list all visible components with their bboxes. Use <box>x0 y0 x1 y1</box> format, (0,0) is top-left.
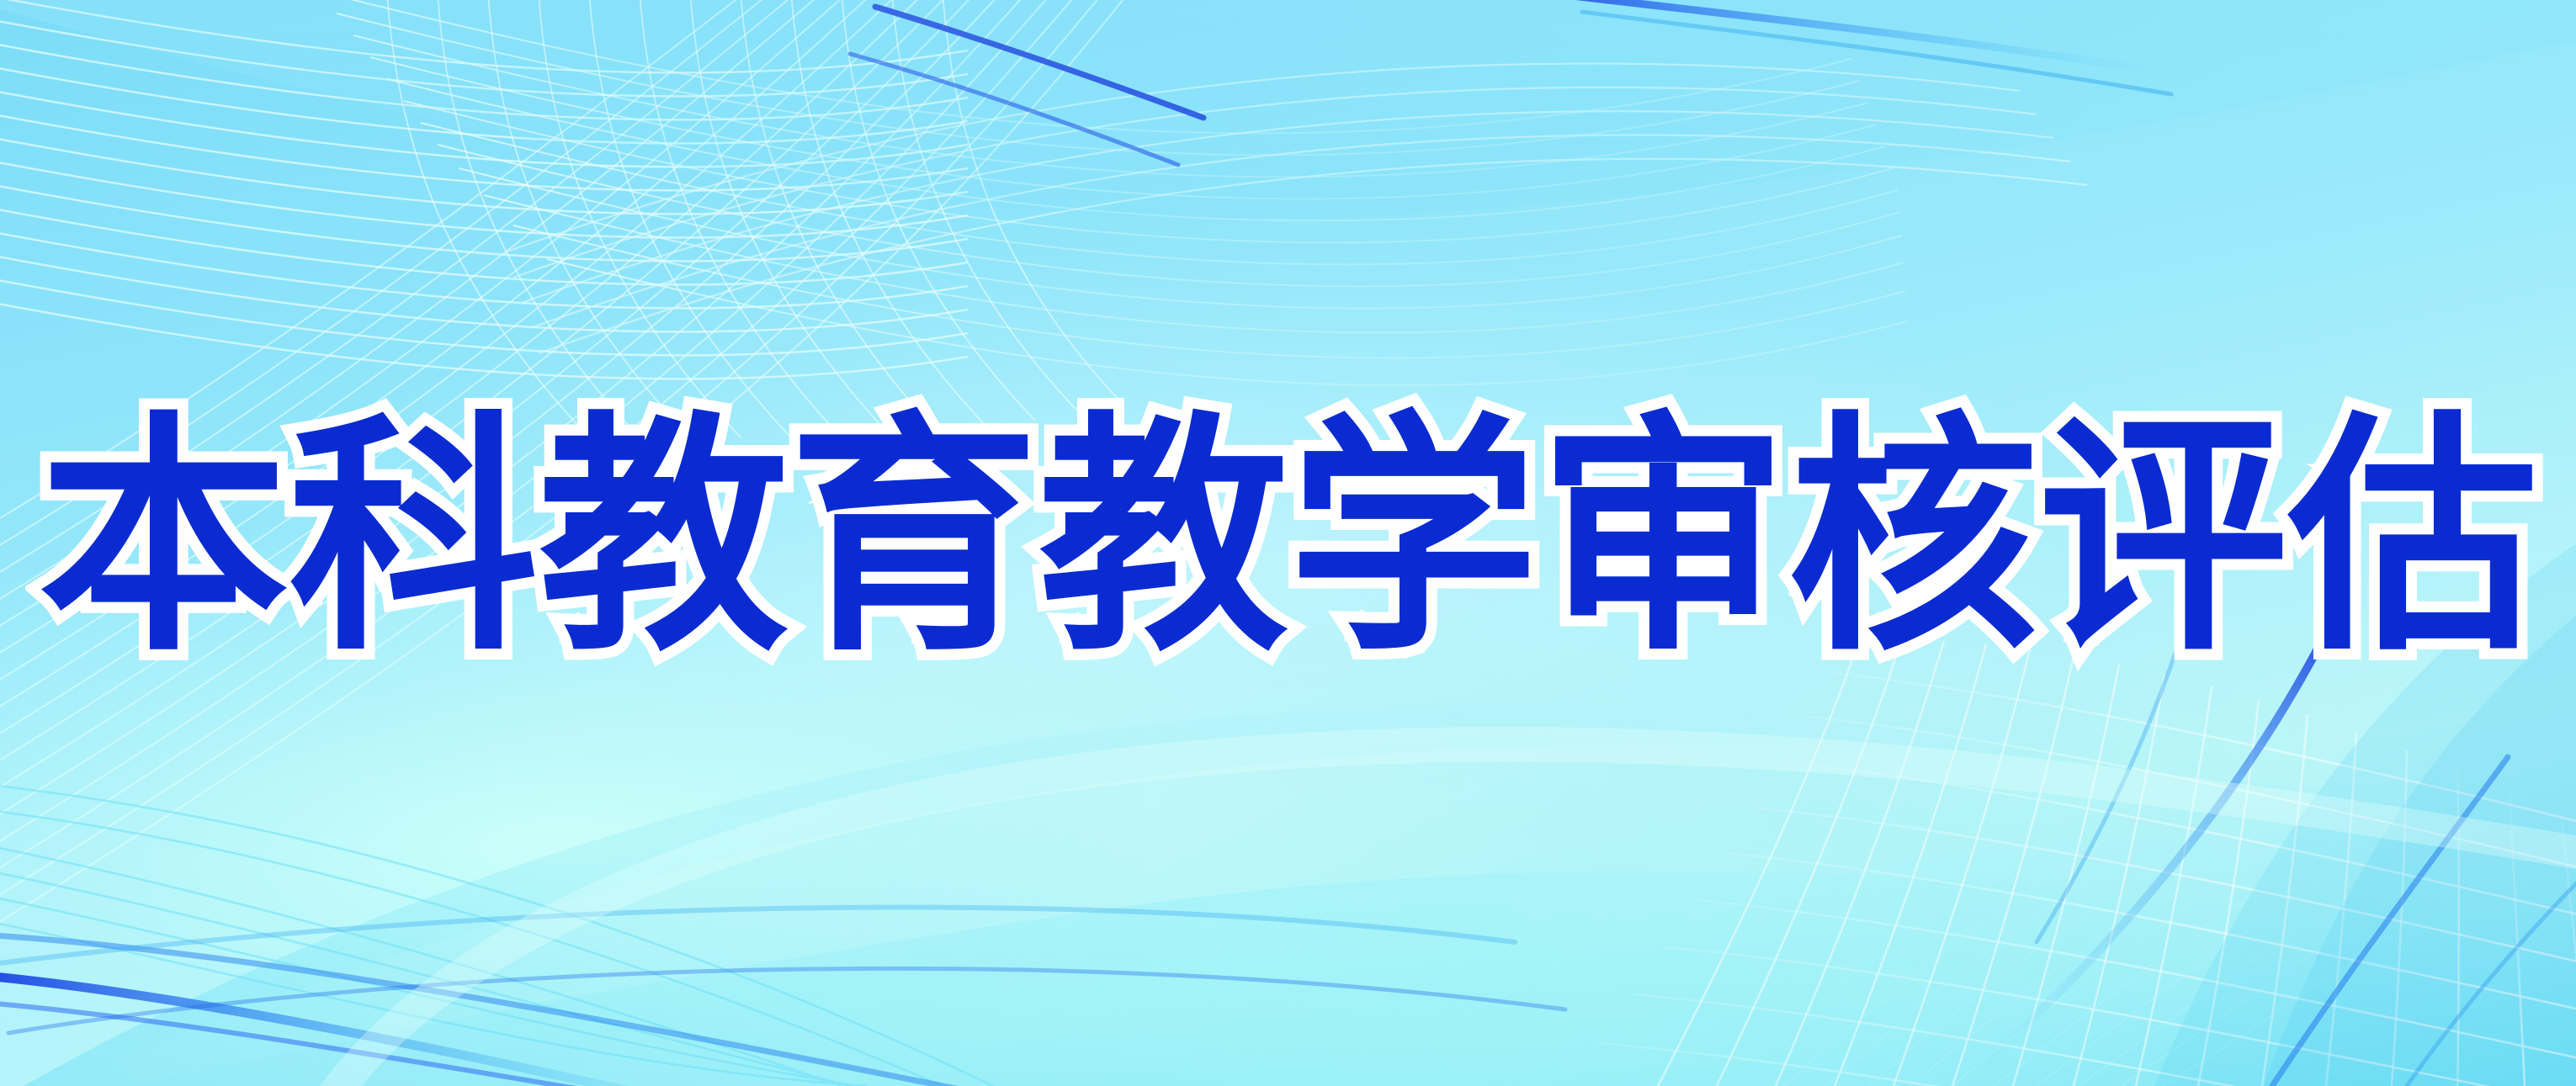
banner-title-container: 本科教育教学审核评估 本科教育教学审核评估 <box>0 397 2576 683</box>
upper-wave-shape-icon <box>0 0 2576 219</box>
banner-title: 本科教育教学审核评估 <box>39 414 2538 666</box>
banner-graphic: 本科教育教学审核评估 本科教育教学审核评估 <box>0 0 2576 1086</box>
